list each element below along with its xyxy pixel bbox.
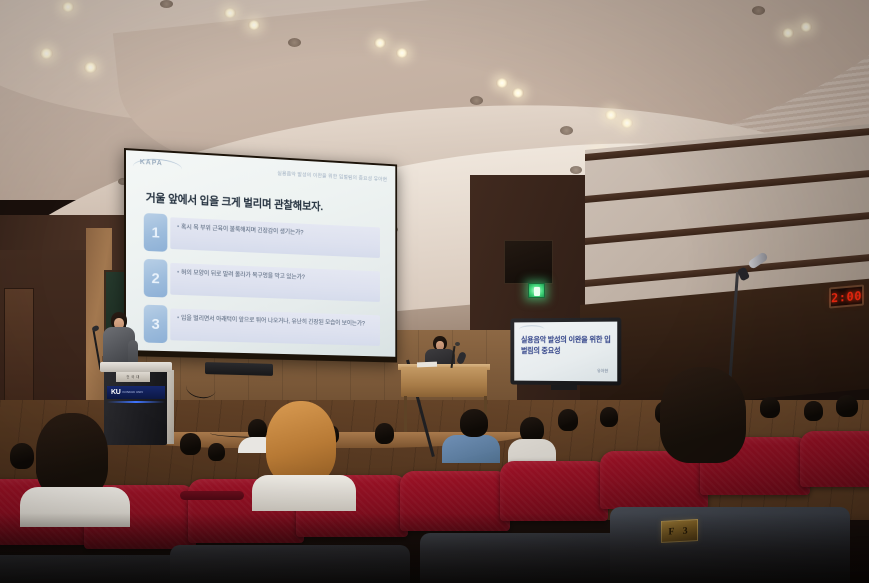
slide-title: 거울 앞에서 입을 크게 벌리며 관찰해보자. <box>146 189 323 214</box>
slide-row-bar: •혹시 목 부위 근육이 불룩해지며 긴장감이 생기는가? <box>170 217 380 258</box>
ceiling-light <box>512 88 524 98</box>
bullet-icon: • <box>177 315 179 322</box>
ceiling-speaker-recessed <box>752 6 765 15</box>
audience-seating: F 3 <box>0 395 869 583</box>
ceiling-light <box>374 38 386 48</box>
audience-head <box>208 443 225 461</box>
moderator-table <box>401 367 487 397</box>
ceiling-light <box>496 78 508 88</box>
ceiling-speaker-recessed <box>470 96 483 105</box>
slide-bullet-rows: 1 •혹시 목 부위 근육이 불룩해지며 긴장감이 생기는가? 2 •혀의 모양… <box>144 213 380 356</box>
bullet-icon: • <box>177 224 179 231</box>
slide-row-bar: •입을 벌리면서 아래턱이 앞으로 튀어 나오거나, 유난히 긴장된 모습이 보… <box>170 309 380 346</box>
ceiling-light <box>782 28 794 38</box>
ceiling-speaker-recessed <box>160 0 173 8</box>
audience-head-foreground <box>660 367 746 463</box>
audience-shoulders-foreground <box>20 487 130 527</box>
slide-row-body: 혀의 모양이 뒤로 말려 올라가 목구멍을 막고 있는가? <box>181 269 305 281</box>
table-microphone-icon <box>455 342 460 346</box>
ceiling-light <box>40 48 53 59</box>
slide-row-number: 1 <box>144 213 168 252</box>
seat[interactable] <box>800 431 869 487</box>
slide-row-body: 입을 벌리면서 아래턱이 앞으로 튀어 나오거나, 유난히 긴장된 모습이 보이… <box>181 315 365 328</box>
slide-header-text: 실용음악 발성의 이완을 위한 입벌림의 중요성 유아현 <box>277 170 387 183</box>
slide-logo: KAPA <box>140 159 163 167</box>
podium-brand-sub: KONKUK UNIV <box>123 391 144 394</box>
bullet-icon: • <box>177 269 179 276</box>
wall-speaker <box>504 240 553 284</box>
ceiling-light <box>800 22 812 32</box>
audience-head <box>10 443 34 469</box>
slide-row: 2 •혀의 모양이 뒤로 말려 올라가 목구멍을 막고 있는가? <box>144 259 380 305</box>
seat-shell[interactable] <box>170 545 410 583</box>
ceiling-light <box>396 48 408 58</box>
ceiling-speaker-recessed <box>288 38 301 47</box>
ceiling-light <box>62 2 74 12</box>
ceiling-light <box>605 110 617 120</box>
monitor-logo-icon <box>519 325 544 329</box>
ceiling-speaker-recessed <box>560 126 573 135</box>
seat[interactable] <box>500 461 608 521</box>
slide-row-number: 3 <box>144 305 168 343</box>
emergency-exit-icon <box>528 283 545 298</box>
audience-head <box>836 395 858 417</box>
armrest <box>180 491 244 500</box>
ceiling-light <box>224 8 236 18</box>
audience-shoulders <box>442 435 500 463</box>
audience-head <box>558 409 578 431</box>
audience-head <box>804 401 823 421</box>
ceiling-speaker-recessed <box>570 166 582 174</box>
slide-row-body: 혹시 목 부위 근육이 불룩해지며 긴장감이 생기는가? <box>181 224 303 237</box>
slide-row: 1 •혹시 목 부위 근육이 불룩해지며 긴장감이 생기는가? <box>144 213 380 261</box>
audience-head <box>460 409 488 437</box>
monitor-stand <box>551 385 577 390</box>
seat-row-plate: F 3 <box>661 519 698 543</box>
audience-head <box>600 407 618 427</box>
confidence-monitor-screen: 실용음악 발성의 이완을 위한 입벌림의 중요성 유아현 <box>514 322 617 382</box>
lecture-hall-scene: 2:00 KAPA 실용음악 발성의 이완을 위한 입벌림의 중요성 유아현 거… <box>0 0 869 583</box>
slide-row-number: 2 <box>144 259 168 298</box>
audience-head <box>180 433 201 455</box>
slide-row: 3 •입을 벌리면서 아래턱이 앞으로 튀어 나오거나, 유난히 긴장된 모습이… <box>144 305 380 349</box>
podium-top-surface <box>100 362 172 372</box>
ceiling-light <box>621 118 633 128</box>
monitor-title: 실용음악 발성의 이완을 위한 입벌림의 중요성 <box>521 335 616 357</box>
slide-row-bar: •혀의 모양이 뒤로 말려 올라가 목구멍을 막고 있는가? <box>170 263 380 302</box>
ceiling-light <box>248 20 260 30</box>
slide-row-text: •혹시 목 부위 근육이 불룩해지며 긴장감이 생기는가? <box>177 223 374 241</box>
seat-shell[interactable] <box>610 507 850 583</box>
slide-row-text: •입을 벌리면서 아래턱이 앞으로 튀어 나오거나, 유난히 긴장된 모습이 보… <box>177 314 374 329</box>
monitor-author: 유아현 <box>597 368 608 374</box>
audience-head <box>760 397 780 418</box>
slide-row-text: •혀의 모양이 뒤로 말려 올라가 목구멍을 막고 있는가? <box>177 268 374 285</box>
audience-head-foreground <box>266 401 336 485</box>
confidence-monitor: 실용음악 발성의 이완을 위한 입벌림의 중요성 유아현 <box>510 317 621 385</box>
papers-on-table <box>417 362 437 368</box>
audience-head <box>375 423 394 444</box>
podium-name-plate: 건 국 대 <box>116 372 150 382</box>
seat[interactable] <box>400 471 510 531</box>
projection-screen-frame: KAPA 실용음악 발성의 이완을 위한 입벌림의 중요성 유아현 거울 앞에서… <box>124 148 397 363</box>
seat-shell[interactable] <box>420 533 630 583</box>
ceiling-light <box>84 62 97 73</box>
projector-equipment <box>205 362 273 376</box>
audience-shoulders <box>508 439 556 463</box>
projection-screen: KAPA 실용음악 발성의 이완을 위한 입벌림의 중요성 유아현 거울 앞에서… <box>126 150 395 357</box>
clock-display: 2:00 <box>831 288 862 305</box>
audience-shoulders-foreground <box>252 475 356 511</box>
led-clock: 2:00 <box>829 284 864 308</box>
